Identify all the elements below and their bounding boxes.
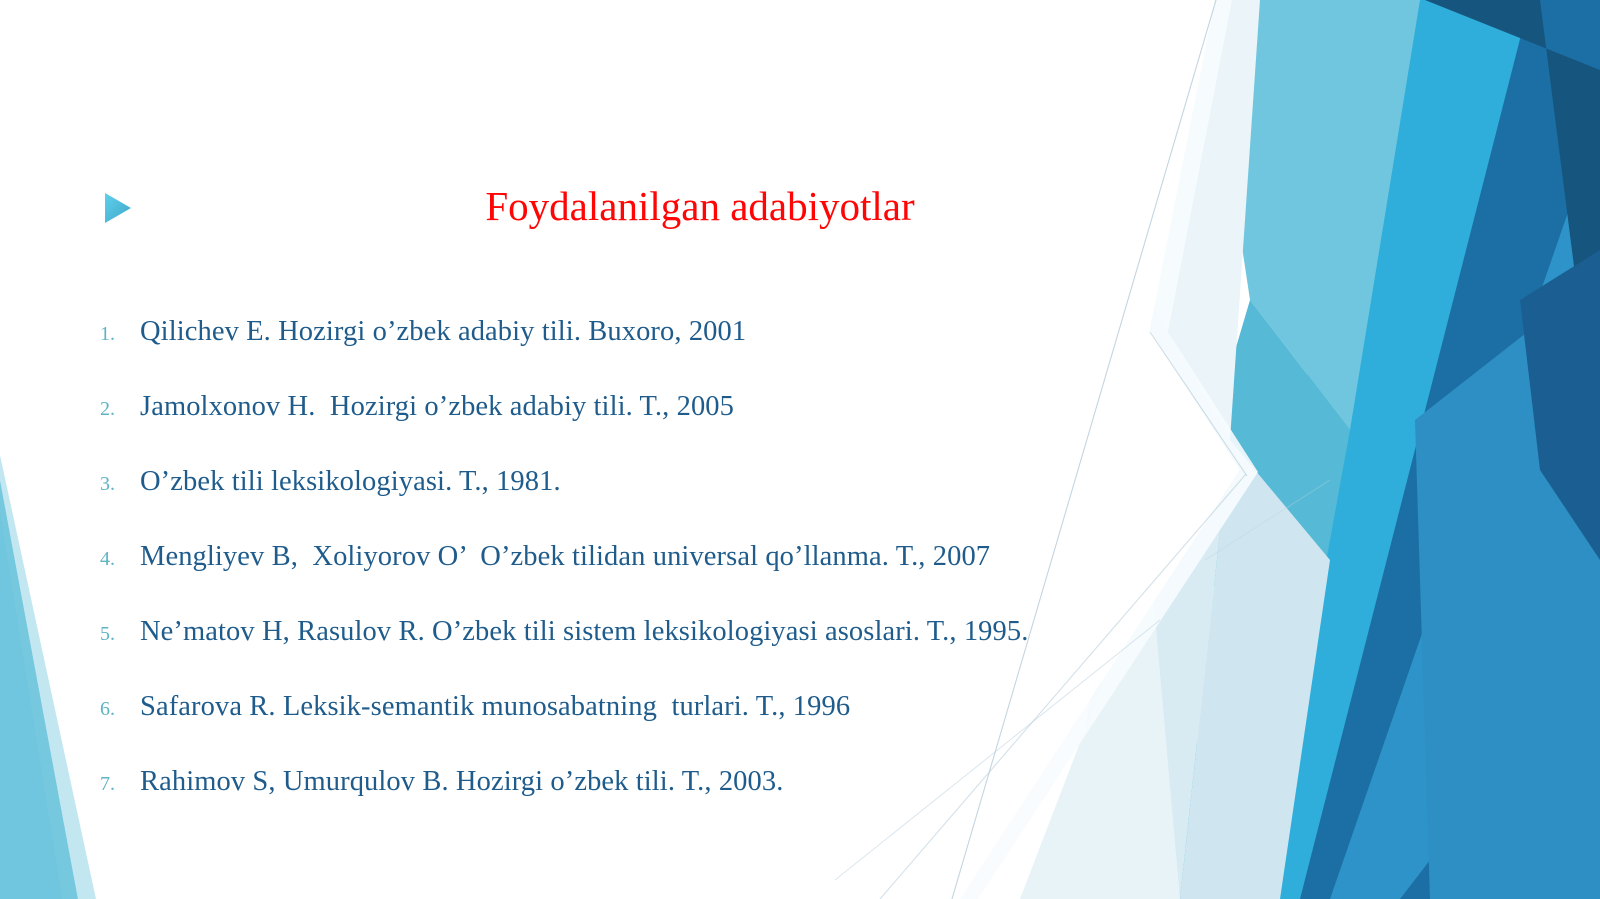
list-item-text: Safarova R. Leksik-semantik munosabatnin… — [140, 693, 850, 722]
list-item: 4. Mengliyev B, Xoliyorov O’ O’zbek tili… — [96, 543, 1256, 618]
list-item-text: Ne’matov H, Rasulov R. O’zbek tili siste… — [140, 618, 1028, 647]
slide-canvas: Foydalanilgan adabiyotlar 1. Qilichev E.… — [0, 0, 1600, 899]
list-item-number: 2. — [96, 399, 140, 419]
list-item-text: Rahimov S, Umurqulov B. Hozirgi o’zbek t… — [140, 768, 783, 797]
list-item-number: 4. — [96, 549, 140, 569]
list-item: 2. Jamolxonov H. Hozirgi o’zbek adabiy t… — [96, 393, 1256, 468]
list-item: 7. Rahimov S, Umurqulov B. Hozirgi o’zbe… — [96, 768, 1256, 843]
list-item-text: Mengliyev B, Xoliyorov O’ O’zbek tilidan… — [140, 543, 990, 572]
list-item-number: 1. — [96, 324, 140, 344]
page-title: Foydalanilgan adabiyotlar — [160, 176, 1240, 236]
list-item: 5. Ne’matov H, Rasulov R. O’zbek tili si… — [96, 618, 1256, 693]
title-block: Foydalanilgan adabiyotlar — [0, 176, 1290, 248]
list-item-text: Jamolxonov H. Hozirgi o’zbek adabiy tili… — [140, 393, 734, 422]
list-item-number: 5. — [96, 624, 140, 644]
list-item-number: 6. — [96, 699, 140, 719]
list-item-number: 3. — [96, 474, 140, 494]
list-item: 6. Safarova R. Leksik-semantik munosabat… — [96, 693, 1256, 768]
list-item: 3. O’zbek tili leksikologiyasi. T., 1981… — [96, 468, 1256, 543]
list-item-number: 7. — [96, 774, 140, 794]
triangle-right-icon — [103, 192, 133, 224]
reference-list: 1. Qilichev E. Hozirgi o’zbek adabiy til… — [96, 318, 1256, 843]
list-item-text: Qilichev E. Hozirgi o’zbek adabiy tili. … — [140, 318, 746, 347]
list-item: 1. Qilichev E. Hozirgi o’zbek adabiy til… — [96, 318, 1256, 393]
list-item-text: O’zbek tili leksikologiyasi. T., 1981. — [140, 468, 561, 497]
